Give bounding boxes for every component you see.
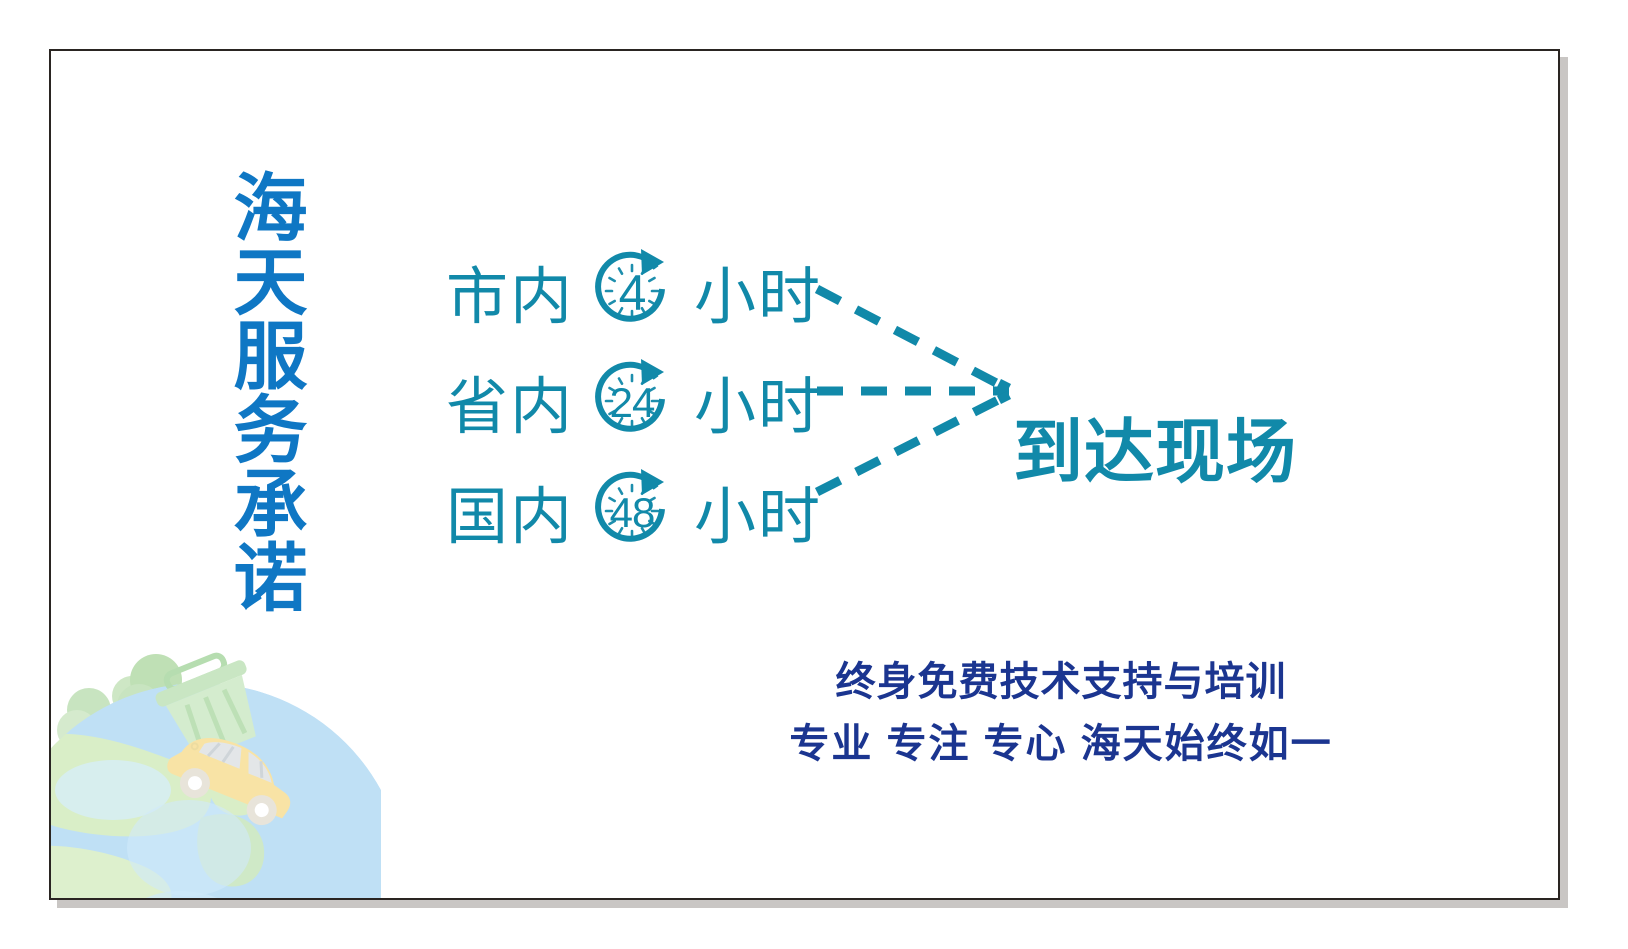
commitment-scope: 省内 — [446, 356, 574, 446]
eco-globe-illustration — [51, 638, 381, 898]
commitment-scope: 国内 — [446, 466, 574, 556]
tagline-line-2: 专业 专注 专心 海天始终如一 — [751, 713, 1371, 775]
tagline-block: 终身免费技术支持与培训 专业 专注 专心 海天始终如一 — [751, 651, 1371, 775]
commitment-row: 省内 — [446, 346, 1006, 456]
page-title-vertical: 海天服务承诺 — [191, 161, 301, 621]
commitment-scope: 市内 — [446, 246, 574, 336]
slide-card: 海天服务承诺 市内 — [49, 49, 1560, 900]
commitment-row: 市内 — [446, 236, 1006, 346]
clock-arrow-icon: 4 — [582, 241, 682, 341]
clock-arrow-icon: 48 — [582, 461, 682, 561]
slide-root: 海天服务承诺 市内 — [0, 0, 1628, 949]
commitment-hours: 48 — [582, 461, 682, 561]
commitment-list: 市内 — [446, 236, 1006, 566]
commitment-row: 国内 — [446, 456, 1006, 566]
clock-arrow-icon: 24 — [582, 351, 682, 451]
commitment-hours: 4 — [582, 241, 682, 341]
destination-label: 到达现场 — [1013, 396, 1297, 497]
commitment-unit: 小时 — [694, 246, 822, 336]
commitment-unit: 小时 — [694, 356, 822, 446]
tagline-line-1: 终身免费技术支持与培训 — [751, 651, 1371, 713]
commitment-hours: 24 — [582, 351, 682, 451]
commitment-unit: 小时 — [694, 466, 822, 556]
